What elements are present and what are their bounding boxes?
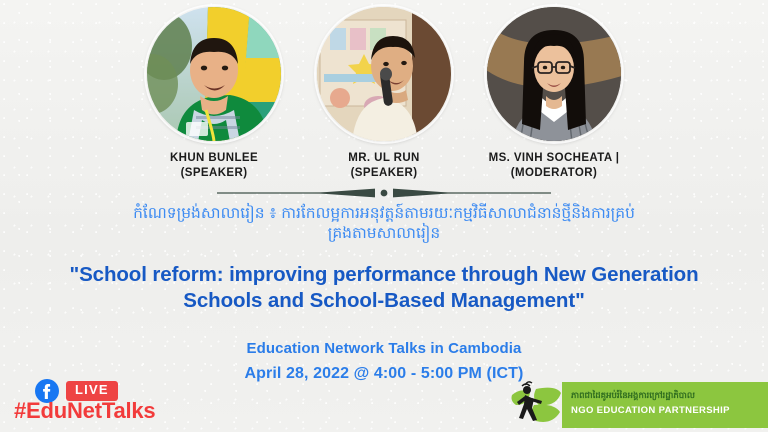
speaker-card-1: KHUN BUNLEE (SPEAKER) — [136, 6, 292, 180]
series-name: Education Network Talks in Cambodia — [0, 340, 768, 357]
speaker-role: (SPEAKER) — [181, 166, 248, 181]
speaker-role: (MODERATOR) — [511, 166, 597, 181]
khmer-title-line1: កំណែទម្រង់សាលារៀន ៖ ការកែលម្អការអនុវត្តន… — [14, 203, 754, 223]
hashtag: #EduNetTalks — [14, 398, 244, 424]
english-title: "School reform: improving performance th… — [0, 262, 768, 314]
nep-name-khmer: ភាពជាដៃគូអប់រំនៃអង្គការក្រៅរដ្ឋាភិបាល — [571, 392, 768, 402]
nep-name-english: NGO EDUCATION PARTNERSHIP — [571, 405, 768, 416]
ornamental-divider — [217, 186, 551, 200]
speaker-role: (SPEAKER) — [351, 166, 418, 181]
khmer-title-line2: គ្រងតាមសាលារៀន — [14, 223, 754, 243]
nep-name-panel: ភាពជាដៃគូអប់រំនៃអង្គការក្រៅរដ្ឋាភិបាល NG… — [562, 382, 768, 428]
speaker-card-2: MR. UL RUN (SPEAKER) — [306, 6, 462, 180]
webinar-poster: KHUN BUNLEE (SPEAKER) — [0, 0, 768, 432]
speaker-row: KHUN BUNLEE (SPEAKER) — [0, 6, 768, 196]
organization-logo: ភាពជាដៃគូអប់រំនៃអង្គការក្រៅរដ្ឋាភិបាល NG… — [510, 377, 768, 432]
speaker-card-3: MS. VINH SOCHEATA | (MODERATOR) — [476, 6, 632, 180]
khmer-title: កំណែទម្រង់សាលារៀន ៖ ការកែលម្អការអនុវត្តន… — [0, 203, 768, 244]
speaker-photo-3 — [486, 6, 622, 142]
speaker-name: KHUN BUNLEE — [170, 151, 258, 166]
speaker-photo-1 — [146, 6, 282, 142]
nep-running-figure-leaf-logo-icon — [510, 379, 562, 431]
speaker-name: MS. VINH SOCHEATA | — [489, 151, 620, 166]
speaker-photo-2 — [316, 6, 452, 142]
speaker-name: MR. UL RUN — [348, 151, 420, 166]
